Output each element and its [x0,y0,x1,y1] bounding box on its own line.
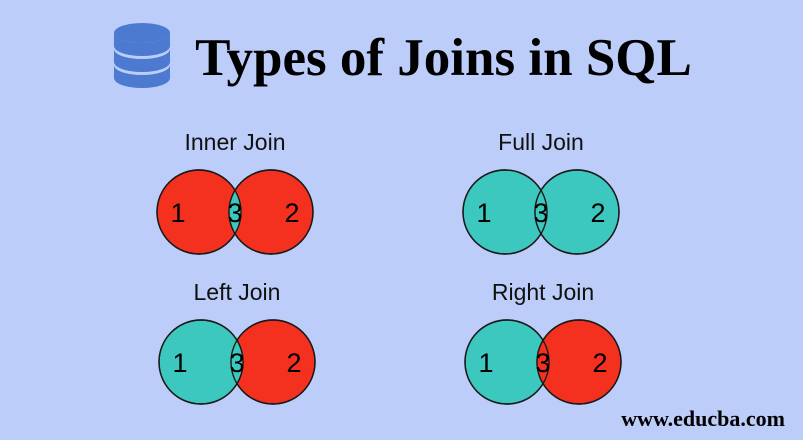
venn-number-left: 1 [172,348,187,378]
venn-number-left: 1 [478,348,493,378]
venn-number-left: 1 [170,198,185,228]
venn-svg-full-join: 1 3 2 [416,162,666,262]
venn-number-intersection: 3 [227,198,242,228]
venn-svg-right-join: 1 3 2 [418,312,668,412]
venn-label-inner-join: Inner Join [110,128,360,156]
venn-label-right-join: Right Join [418,278,668,306]
venn-number-right: 2 [286,348,301,378]
venn-label-left-join: Left Join [112,278,362,306]
venn-number-intersection: 3 [229,348,244,378]
venn-svg-inner-join: 1 3 2 [110,162,360,262]
slide-canvas: Types of Joins in SQL Inner Join 1 3 2 F… [0,0,803,440]
venn-diagram-full-join: Full Join 1 3 2 [416,128,666,278]
title-block: Types of Joins in SQL [0,8,803,108]
venn-number-intersection: 3 [533,198,548,228]
venn-svg-left-join: 1 3 2 [112,312,362,412]
venn-diagram-left-join: Left Join 1 3 2 [112,278,362,428]
venn-number-right: 2 [592,348,607,378]
watermark: www.educba.com [621,406,785,432]
venn-number-right: 2 [284,198,299,228]
venn-diagram-inner-join: Inner Join 1 3 2 [110,128,360,278]
venn-number-right: 2 [590,198,605,228]
database-icon [111,22,173,94]
venn-label-full-join: Full Join [416,128,666,156]
venn-number-intersection: 3 [535,348,550,378]
page-title: Types of Joins in SQL [195,32,692,85]
venn-number-left: 1 [476,198,491,228]
